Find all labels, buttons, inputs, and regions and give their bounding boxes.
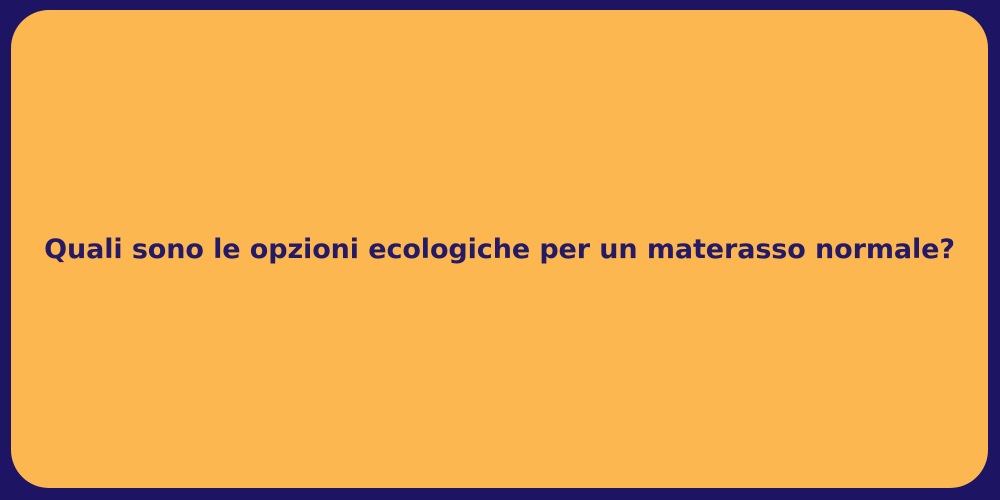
question-headline: Quali sono le opzioni ecologiche per un …	[11, 233, 988, 267]
outer-frame: Quali sono le opzioni ecologiche per un …	[0, 0, 1000, 500]
question-card: Quali sono le opzioni ecologiche per un …	[11, 10, 988, 488]
